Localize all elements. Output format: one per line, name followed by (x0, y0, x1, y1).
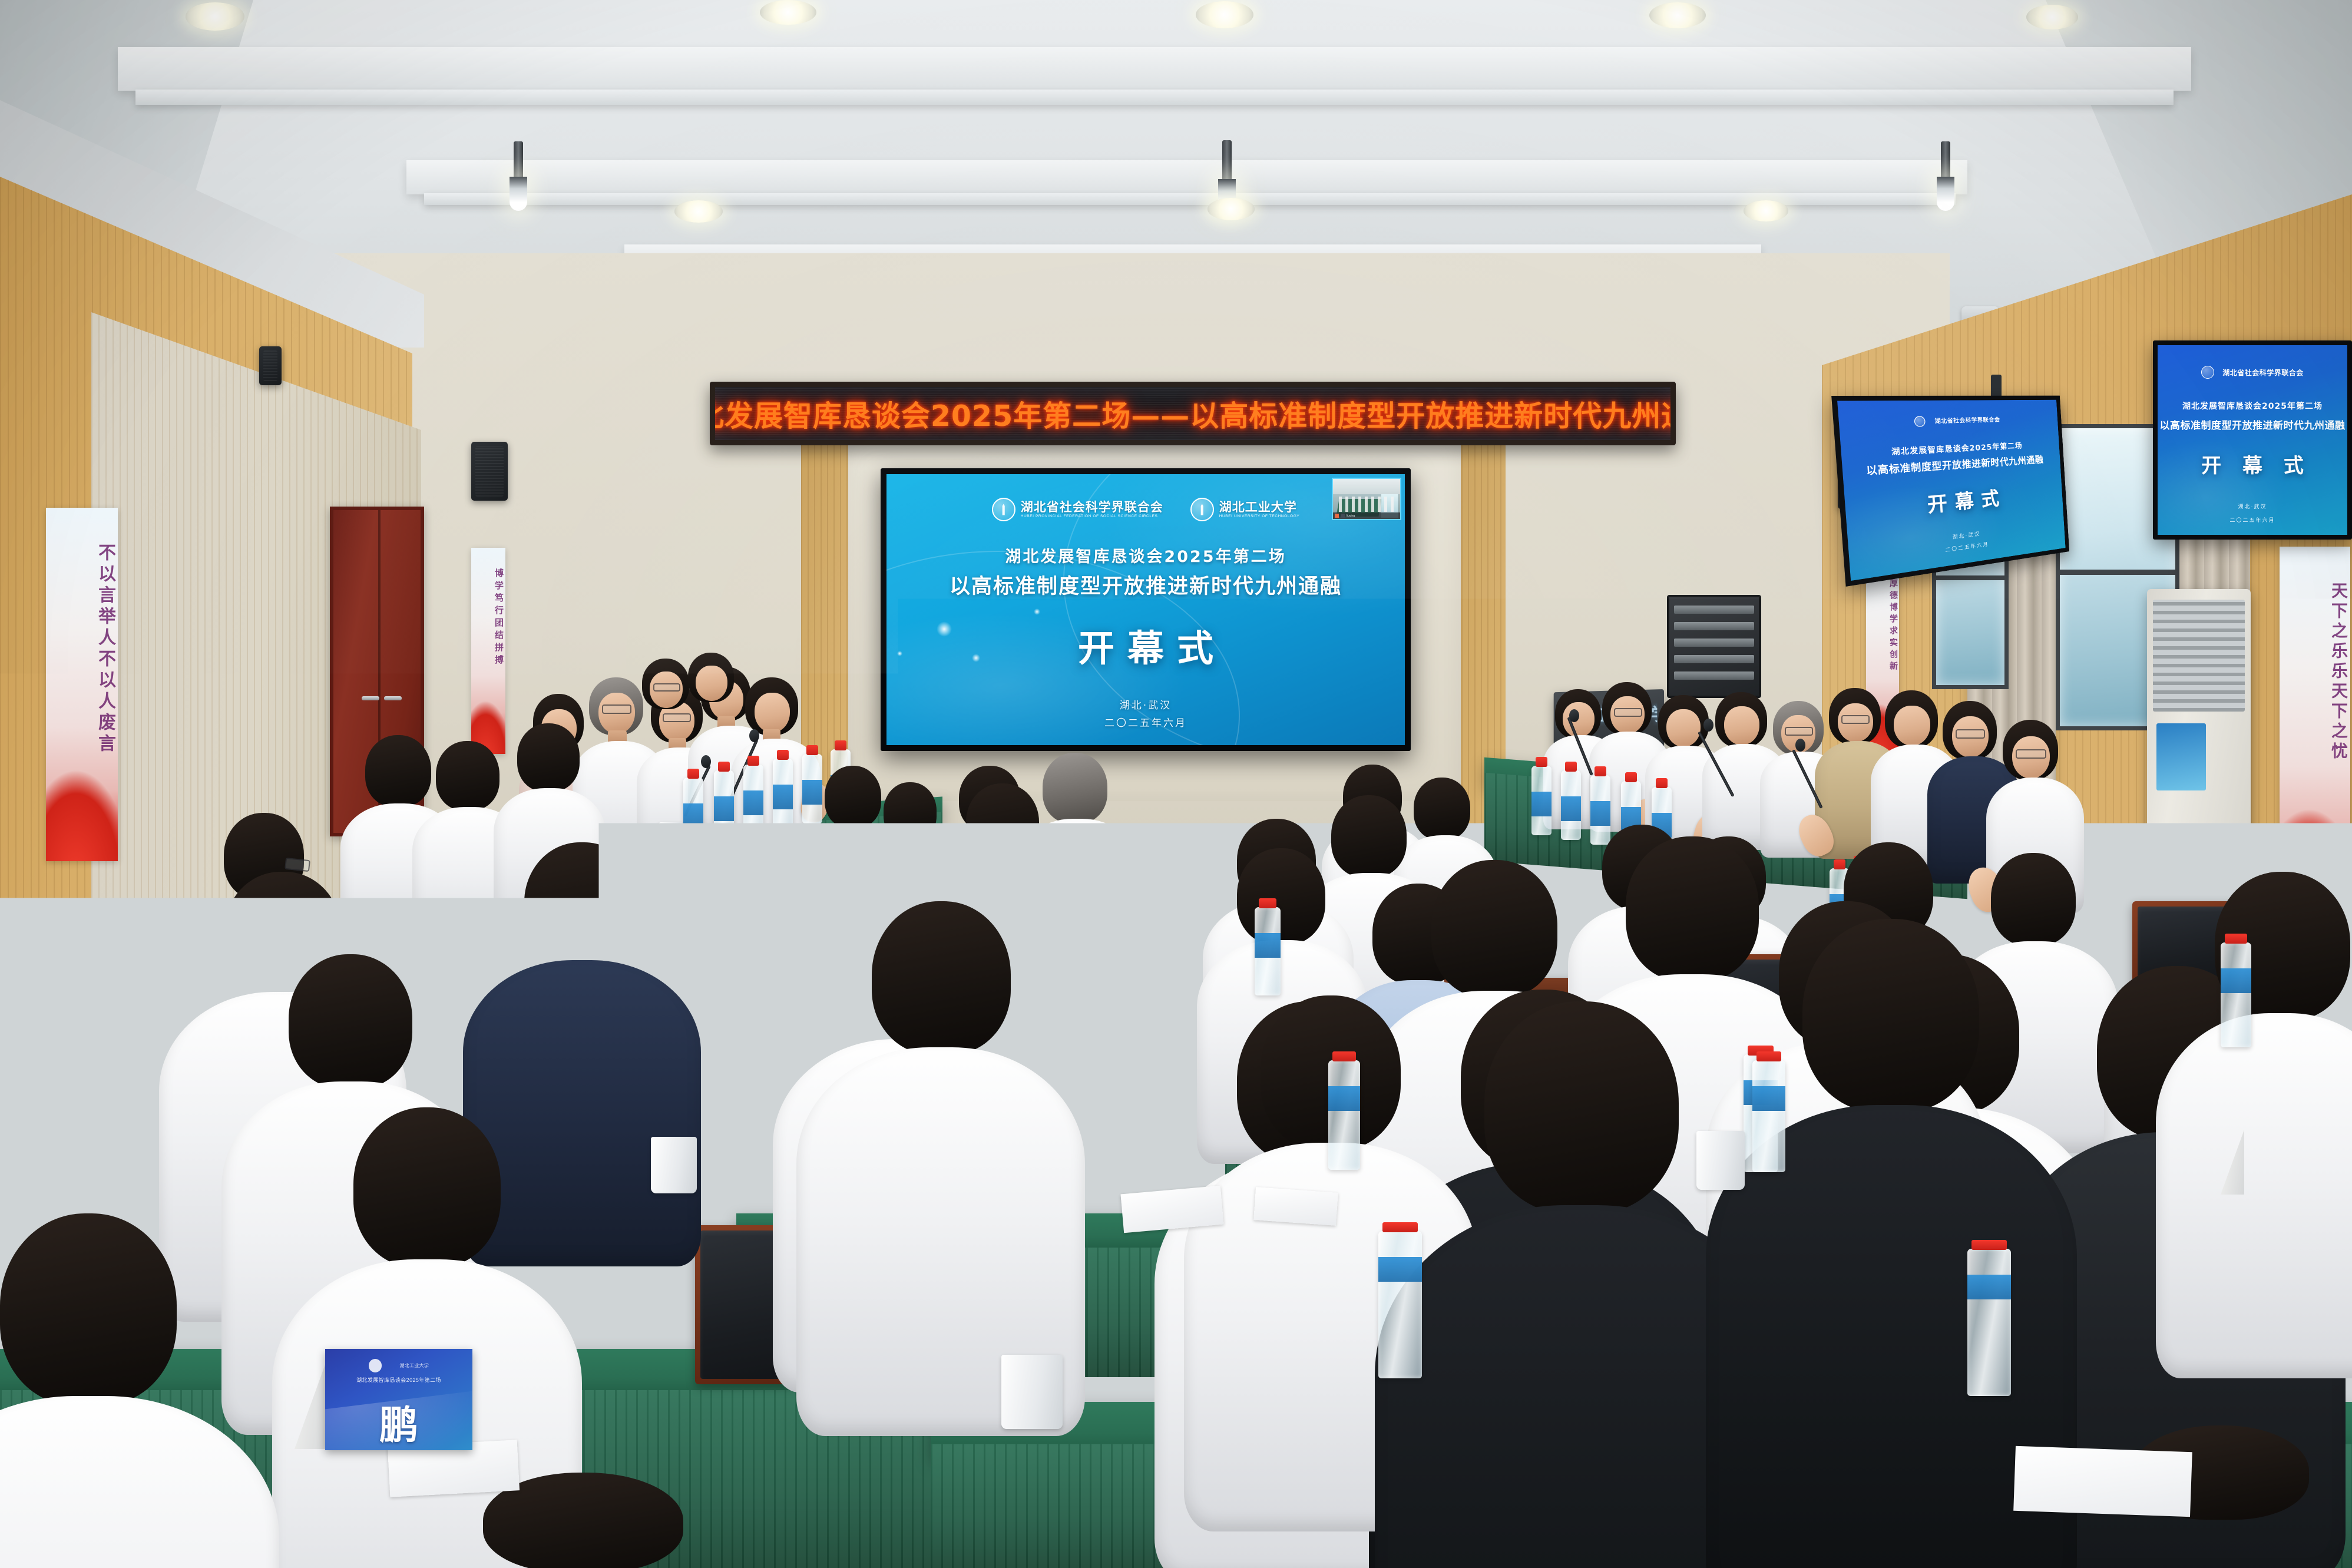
wall-banner-left-near: 不以言举人不以人废言 (46, 508, 118, 861)
logo-en-text: HUBEI UNIVERSITY OF TECHNOLOGY (1219, 515, 1300, 519)
water-bottle (773, 759, 793, 828)
pip-mute-icon (1335, 514, 1339, 518)
right-tv-title2: 以高标准制度型开放推进新时代九州通融 (2158, 417, 2347, 432)
logo-cn-text: 湖北工业大学 (1219, 501, 1300, 514)
ceiling-downlight (1649, 2, 1706, 28)
water-bottle (1590, 775, 1610, 845)
ceiling-beam-1 (135, 90, 2174, 105)
main-projection-screen: 湖北省社会科学界联合会 HUBEI PROVINCIAL FEDERATION … (881, 468, 1411, 751)
glasses-icon (1841, 715, 1870, 724)
logo-hubei-federation: 湖北省社会科学界联合会 HUBEI PROVINCIAL FEDERATION … (992, 498, 1163, 521)
rack-unit (1674, 671, 1754, 680)
window-mullion (2060, 570, 2175, 575)
right-tv-headline: 开 幕 式 (2158, 449, 2347, 478)
slide-decor-dot (1034, 608, 1040, 615)
slide-footer-location: 湖北·武汉 (886, 697, 1405, 712)
rack-unit (1674, 639, 1754, 647)
glasses-icon (1614, 708, 1642, 717)
university-emblem-icon (1190, 498, 1214, 521)
water-bottle (683, 778, 703, 847)
nameplate-logo-label: 湖北省社会科学界联合会 (2039, 1354, 2092, 1360)
pendant-spotlight (1937, 177, 1954, 211)
nameplate-subtitle: 湖北发展智库恳谈会2025年第二场 (2007, 1368, 2172, 1376)
glasses-icon (602, 704, 631, 714)
slide-headline: 开幕式 (886, 618, 1405, 671)
angled-tv-logo-row: 湖北省社会科学界联合会 (1838, 413, 2057, 429)
nameplate-logo-label: 湖北工业大学 (399, 1362, 429, 1369)
ceiling-downlight (2026, 5, 2078, 29)
av-equipment-rack (1667, 595, 1761, 698)
water-bottle (743, 765, 763, 834)
chair[interactable] (725, 919, 831, 1007)
right-tv-footer-date: 二〇二五年六月 (2158, 516, 2347, 524)
document-paper (1253, 1187, 1338, 1226)
pip-ceiling (1333, 479, 1400, 494)
glasses-icon (2016, 749, 2046, 759)
ceiling-slab-2 (406, 160, 1967, 194)
pip-attendees (1339, 497, 1395, 512)
video-conference-pip: liuying (1332, 478, 1401, 520)
microphone-head (701, 755, 711, 768)
slide-footer-date: 二〇二五年六月 (886, 714, 1405, 729)
paper-cup (651, 1137, 697, 1193)
water-bottle (1255, 907, 1281, 995)
water-bottle (1378, 1231, 1422, 1378)
side-display-right: Casun 湖北省社会科学界联合会 湖北发展智库恳谈会2025年第二场 以高标准… (2153, 340, 2352, 540)
federation-emblem-icon (369, 1359, 382, 1372)
slide-content: 湖北省社会科学界联合会 HUBEI PROVINCIAL FEDERATION … (886, 474, 1405, 745)
paper-cup (659, 822, 683, 852)
ceiling-beam-2 (424, 193, 1956, 205)
glasses-icon (1785, 727, 1813, 736)
ceiling-downlight (760, 0, 816, 25)
pendant-spotlight (510, 177, 527, 211)
glasses-icon (663, 713, 691, 722)
federation-emblem-icon (992, 498, 1015, 521)
ac-vent-grille (2153, 600, 2245, 712)
slide-title-line1: 湖北发展智库恳谈会2025年第二场 (886, 544, 1405, 567)
water-bottle (714, 770, 734, 840)
paper-cup (725, 882, 752, 914)
microphone-head (1703, 719, 1713, 732)
logo-en-text: HUBEI PROVINCIAL FEDERATION OF SOCIAL SC… (1021, 515, 1163, 519)
pip-status-bar: liuying (1333, 512, 1400, 519)
federation-emblem-icon (1914, 416, 1926, 427)
document-paper (2013, 1446, 2192, 1517)
paper-cup (1001, 1355, 1063, 1429)
glasses-icon (285, 858, 310, 872)
rack-unit (1674, 606, 1754, 614)
conference-hall-photo: 不以言举人不以人废言 博学笃行团结拼搏 天下之乐乐天下之忧 厚德博学求实创新 (0, 0, 2352, 1568)
federation-emblem-icon (694, 914, 700, 921)
ceiling-downlight (186, 2, 244, 31)
nameplate-logo-row: 湖北省社会科学界联合会 湖北工业大学 (2007, 1349, 2172, 1364)
pip-camera-icon (1341, 514, 1345, 518)
ceiling-downlight (1196, 1, 1253, 28)
nameplate-peng: 湖北工业大学 湖北发展智库恳谈会2025年第二场 鹏 (325, 1349, 472, 1450)
rack-unit (1674, 655, 1754, 663)
slide-logo-row: 湖北省社会科学界联合会 HUBEI PROVINCIAL FEDERATION … (886, 498, 1405, 521)
rack-unit (1674, 622, 1754, 630)
federation-emblem-icon (2201, 366, 2214, 379)
wall-banner-left-far: 博学笃行团结拼搏 (471, 548, 505, 754)
wall-speaker-far-left (259, 346, 282, 385)
microphone-head (1569, 709, 1579, 722)
nameplate-logo-row: 湖北工业大学 (325, 1359, 472, 1372)
ac-control-panel[interactable] (2156, 723, 2206, 790)
right-tv-logo-row: 湖北省社会科学界联合会 (2158, 366, 2347, 379)
led-scrolling-banner: 湖北发展智库恳谈会2025年第二场——以高标准制度型开放推进新时代九州通融 (710, 382, 1676, 445)
water-bottle (802, 754, 822, 823)
water-bottle (1561, 770, 1581, 840)
door-handle[interactable] (384, 696, 402, 700)
wall-speaker-left (471, 442, 508, 501)
microphone-head (1795, 739, 1805, 752)
federation-emblem-icon (2007, 1349, 2019, 1364)
logo-hubei-university: 湖北工业大学 HUBEI UNIVERSITY OF TECHNOLOGY (1190, 498, 1300, 521)
microphone-head (749, 729, 759, 742)
glasses-icon (653, 683, 680, 692)
water-bottle (1328, 1060, 1360, 1170)
right-tv-logo-text: 湖北省社会科学界联合会 (2222, 368, 2304, 378)
ceiling-downlight (1744, 200, 1788, 221)
right-tv-slide: 湖北省社会科学界联合会 湖北发展智库恳谈会2025年第二场 以高标准制度型开放推… (2158, 345, 2347, 535)
paper-cup (1696, 1131, 1745, 1190)
logo-cn-text: 湖北省社会科学界联合会 (1021, 501, 1163, 514)
right-tv-footer-location: 湖北·武汉 (2158, 502, 2347, 510)
university-emblem-icon (710, 914, 716, 921)
university-emblem-icon (2112, 1349, 2127, 1364)
window-mullion (1936, 575, 2004, 580)
ceiling-downlight (1208, 198, 1255, 220)
ceiling-slab-1 (118, 47, 2191, 91)
wall-banner-right-near: 天下之乐乐天下之忧 (2280, 547, 2350, 900)
pip-participant-label: liuying (1347, 514, 1355, 518)
nameplate-name: 吴业鹏 (2007, 1388, 2172, 1450)
glasses-icon (1956, 729, 1985, 739)
water-bottle (2221, 942, 2251, 1047)
nameplate-name: 鹏 (325, 1394, 472, 1450)
right-tv-title1: 湖北发展智库恳谈会2025年第二场 (2158, 400, 2347, 412)
nameplate-logo-label: 湖北工业大学 (2146, 1354, 2172, 1360)
angled-tv-slide: 湖北省社会科学界联合会 湖北发展智库恳谈会2025年第二场 以高标准制度型开放推… (1837, 400, 2065, 581)
door-handle[interactable] (362, 696, 379, 700)
nameplate-wuyepeng: 湖北省社会科学界联合会 湖北工业大学 湖北发展智库恳谈会2025年第二场 吴业鹏 (2007, 1338, 2172, 1450)
nameplate-subtitle: 湖北发展智库恳谈会2025年第二场 (325, 1376, 472, 1384)
slide-title-line2: 以高标准制度型开放推进新时代九州通融 (886, 570, 1405, 600)
ceiling-downlight (674, 200, 723, 223)
water-bottle (1752, 1060, 1785, 1172)
angled-tv-headline: 开幕式 (1844, 477, 2063, 527)
angled-tv-logo-text: 湖北省社会科学界联合会 (1934, 415, 2000, 425)
led-banner-text: 湖北发展智库恳谈会2025年第二场——以高标准制度型开放推进新时代九州通融 (710, 393, 1676, 435)
water-bottle (1531, 766, 1552, 835)
